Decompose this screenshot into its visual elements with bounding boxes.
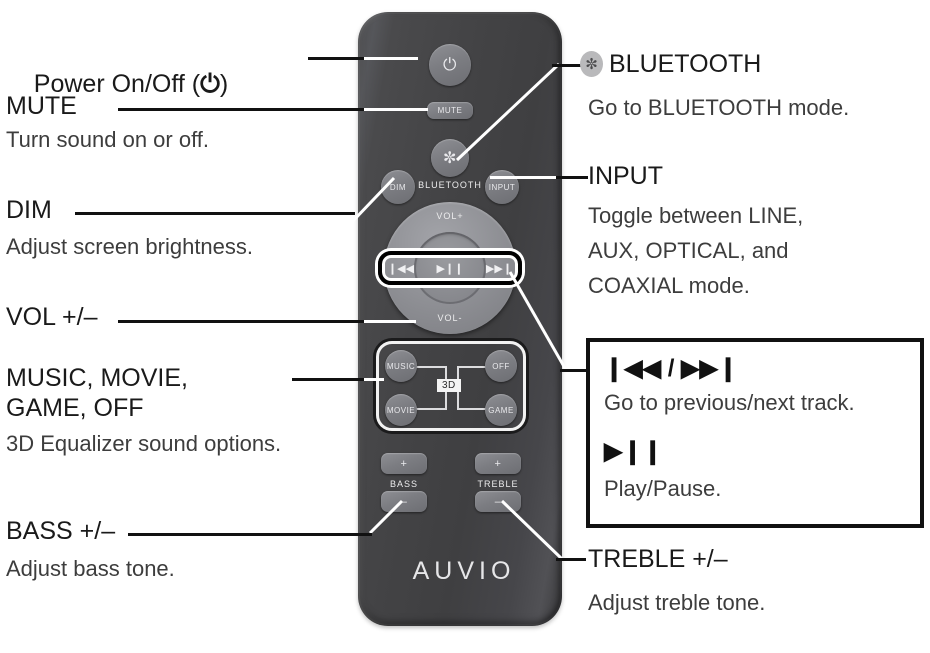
diagram-canvas: ⏻ MUTE ✼ BLUETOOTH DIM INPUT VOL+ VOL- ❙…: [0, 0, 930, 653]
play-pause-description: Play/Pause.: [604, 476, 721, 502]
input-description-line2: AUX, OPTICAL, and: [588, 238, 789, 264]
eq-label-line2: GAME, OFF: [6, 394, 144, 423]
leader-line-treble-outer: [556, 558, 586, 561]
eq-music-button[interactable]: MUSIC: [385, 350, 417, 382]
vol-up-label: VOL+: [405, 211, 495, 221]
leader-line-mute: [360, 108, 428, 111]
eq-center-label: 3D: [437, 379, 461, 392]
leader-line-bluetooth-outer: [552, 64, 582, 67]
eq-movie-label: MOVIE: [387, 406, 415, 415]
plus-icon: +: [401, 458, 408, 470]
vol-down-label: VOL-: [405, 313, 495, 323]
leader-line-vol: [360, 320, 416, 323]
bluetooth-button-caption: BLUETOOTH: [405, 180, 495, 190]
play-pause-button[interactable]: ▶❙❙: [432, 262, 468, 275]
bluetooth-icon: ✼: [585, 57, 598, 72]
eq-description: 3D Equalizer sound options.: [6, 431, 281, 457]
treble-label: TREBLE +/–: [588, 545, 728, 574]
bass-label: BASS: [376, 479, 432, 489]
bluetooth-description: Go to BLUETOOTH mode.: [588, 95, 849, 121]
treble-description: Adjust treble tone.: [588, 590, 765, 616]
leader-line-input: [490, 176, 562, 179]
leader-line-track-diagonal: [500, 270, 580, 380]
bass-plus-button[interactable]: +: [381, 453, 427, 474]
power-label-paren: ): [220, 70, 228, 98]
bluetooth-icon-badge: ✼: [580, 51, 603, 77]
dim-description: Adjust screen brightness.: [6, 234, 253, 260]
input-button-label: INPUT: [489, 183, 516, 192]
input-description-line3: COAXIAL mode.: [588, 273, 750, 299]
leader-line-power-outer: [308, 57, 364, 60]
track-glyph: ❙◀◀ / ▶▶❙: [604, 354, 738, 383]
leader-line-treble-diagonal: [498, 497, 578, 567]
eq-game-label: GAME: [488, 406, 514, 415]
previous-track-button[interactable]: ❙◀◀: [384, 262, 418, 275]
treble-plus-button[interactable]: +: [475, 453, 521, 474]
mute-label: MUTE: [6, 92, 77, 121]
leader-line-eq-outer: [292, 378, 364, 381]
mute-description: Turn sound on or off.: [6, 127, 209, 153]
power-icon: ⏻: [200, 70, 220, 98]
eq-game-button[interactable]: GAME: [485, 394, 517, 426]
leader-line-bluetooth-diagonal: [445, 60, 565, 170]
playback-callout-box: ❙◀◀ / ▶▶❙ Go to previous/next track. ▶❙❙…: [586, 338, 924, 528]
eq-label-line1: MUSIC, MOVIE,: [6, 364, 188, 393]
leader-line-input-outer: [556, 176, 588, 179]
input-description-line1: Toggle between LINE,: [588, 203, 803, 229]
dim-label: DIM: [6, 196, 52, 225]
bass-description: Adjust bass tone.: [6, 556, 175, 582]
leader-line-vol-outer: [118, 320, 364, 323]
leader-line-dim-diagonal: [350, 170, 410, 230]
leader-line-dim-outer: [75, 212, 355, 215]
treble-label: TREBLE: [470, 479, 526, 489]
leader-line-bass-outer: [128, 533, 372, 536]
vol-label: VOL +/–: [6, 303, 98, 332]
plus-icon: +: [495, 458, 502, 470]
input-label: INPUT: [588, 162, 663, 191]
play-pause-glyph: ▶❙❙: [604, 437, 663, 466]
bass-label: BASS +/–: [6, 517, 115, 546]
bluetooth-label: BLUETOOTH: [609, 50, 761, 79]
track-description: Go to previous/next track.: [604, 390, 855, 416]
leader-line-bass-diagonal: [368, 497, 428, 537]
eq-movie-button[interactable]: MOVIE: [385, 394, 417, 426]
eq-music-label: MUSIC: [387, 362, 415, 371]
leader-line-power: [360, 57, 418, 60]
